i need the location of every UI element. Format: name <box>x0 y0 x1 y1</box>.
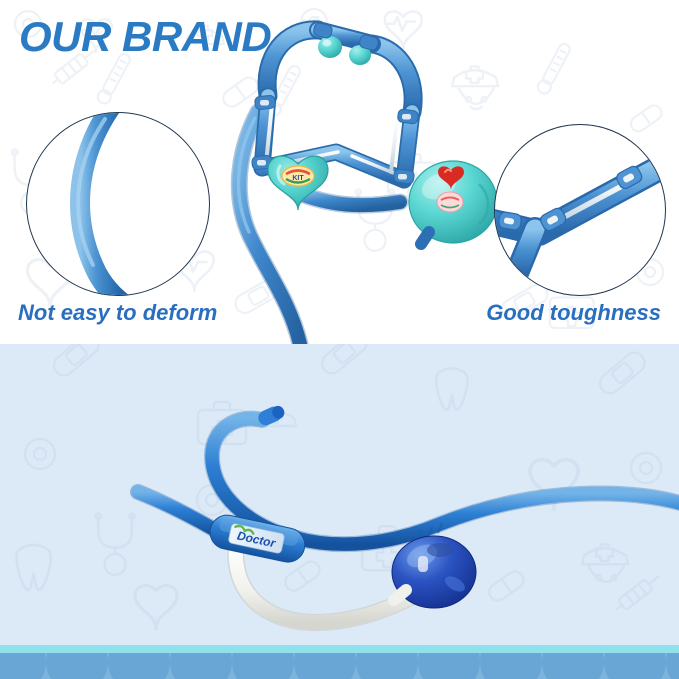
footer-scallop <box>666 653 679 679</box>
footer-scallop <box>232 653 294 679</box>
watermark-layer-bottom <box>0 344 679 645</box>
caption-not-easy-to-deform: Not easy to deform <box>18 300 217 326</box>
panel-other-brand: Doctor OTHER BRAND <box>0 344 679 645</box>
footer-scallop <box>46 653 108 679</box>
footer-scallop <box>294 653 356 679</box>
footer-scallop <box>480 653 542 679</box>
smooth-tube-detail-art <box>27 113 210 296</box>
footer-scallop <box>604 653 666 679</box>
other-brand-label-text: Doctor <box>236 529 278 551</box>
callout-good-toughness <box>494 124 666 296</box>
callout-not-easy-to-deform <box>26 112 210 296</box>
panel-our-brand: KIT OUR BRAND <box>0 0 679 344</box>
footer-cyan-strip <box>0 645 679 653</box>
footer-blue-band <box>0 653 679 679</box>
footer-decoration <box>0 645 679 679</box>
other-brand-product-art: Doctor <box>0 344 679 645</box>
watermark-icons-bottom <box>0 344 679 645</box>
caption-good-toughness: Good toughness <box>486 300 661 326</box>
footer-scallop <box>418 653 480 679</box>
other-stethoscope-illustration: Doctor <box>0 344 679 645</box>
footer-scallop <box>170 653 232 679</box>
heart-sticker-text: KIT <box>292 175 304 182</box>
infographic-canvas: KIT OUR BRAND <box>0 0 679 679</box>
footer-scallop <box>542 653 604 679</box>
footer-scallop <box>356 653 418 679</box>
page-title-our-brand: OUR BRAND <box>19 13 271 61</box>
footer-scallop <box>108 653 170 679</box>
footer-scallop <box>0 653 46 679</box>
headset-joint-detail-art <box>495 125 666 296</box>
